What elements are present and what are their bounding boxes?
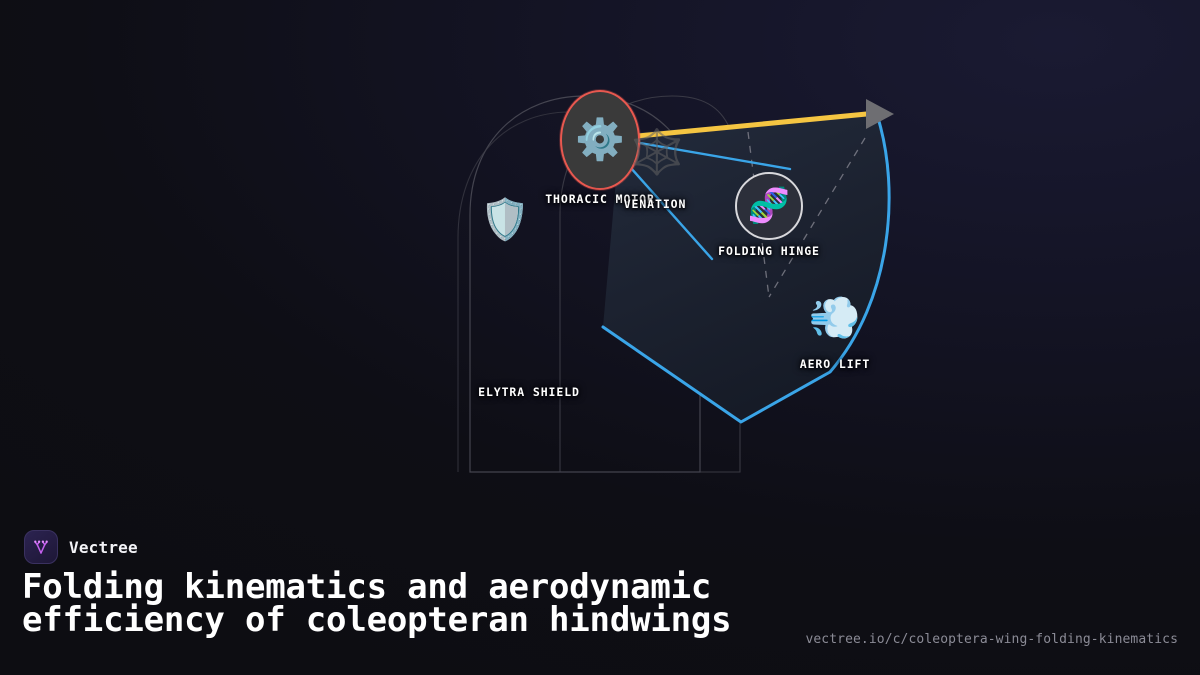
- node-label-aero-lift: AERO LIFT: [800, 357, 870, 371]
- elytra-shield-frame: 🛡️: [479, 194, 531, 246]
- node-label-venation: VENATION: [624, 197, 687, 211]
- wing-diagram-svg: [0, 0, 1200, 520]
- node-thoracic-motor[interactable]: ⚙️: [560, 90, 640, 190]
- poster-footer: Vectree Folding kinematics and aerodynam…: [0, 525, 1200, 675]
- wind-dash-icon: 💨: [809, 297, 861, 339]
- gear-icon: ⚙️: [575, 120, 625, 160]
- node-elytra-shield[interactable]: 🛡️: [479, 194, 531, 246]
- vectree-tree-mark-icon: [31, 537, 51, 557]
- venation-frame: 🕸️: [631, 127, 683, 179]
- page-title: Folding kinematics and aerodynamic effic…: [22, 571, 1178, 637]
- node-venation[interactable]: 🕸️: [631, 127, 683, 179]
- shield-icon: 🛡️: [480, 200, 530, 240]
- poster-canvas: ⚙️ THORACIC MOTOR 🕸️ VENATION 🛡️ ELYTRA …: [0, 0, 1200, 675]
- node-label-elytra-shield: ELYTRA SHIELD: [478, 385, 580, 399]
- spider-web-icon: 🕸️: [630, 131, 685, 175]
- folding-hinge-frame: 🧬: [735, 172, 803, 240]
- elytra-outline-outer: [458, 112, 570, 472]
- thoracic-motor-frame: ⚙️: [560, 90, 640, 190]
- wing-diagram: ⚙️ THORACIC MOTOR 🕸️ VENATION 🛡️ ELYTRA …: [0, 0, 1200, 520]
- aero-lift-frame: 💨: [809, 292, 861, 344]
- node-label-folding-hinge: FOLDING HINGE: [718, 244, 820, 258]
- brand-name: Vectree: [69, 538, 138, 557]
- source-url: vectree.io/c/coleoptera-wing-folding-kin…: [805, 632, 1178, 647]
- node-aero-lift[interactable]: 💨: [809, 292, 861, 344]
- node-folding-hinge[interactable]: 🧬: [735, 172, 803, 240]
- dna-icon: 🧬: [748, 189, 790, 223]
- brand[interactable]: Vectree: [24, 530, 138, 564]
- vectree-logo-icon: [24, 530, 58, 564]
